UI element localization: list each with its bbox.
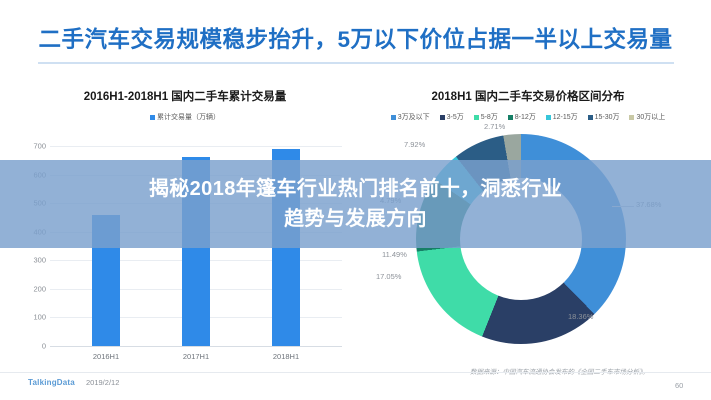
legend-label: 3-5万 — [447, 114, 464, 121]
slice-label-30wan-yishang: 2.71% — [484, 122, 505, 131]
footer-divider — [0, 372, 711, 373]
legend-swatch-icon — [391, 115, 396, 120]
legend-label: 30万以上 — [636, 114, 665, 121]
y-axis-tick: 0 — [6, 342, 46, 351]
legend-label: 15-30万 — [595, 114, 620, 121]
legend-label: 累计交易量（万辆） — [157, 114, 220, 121]
legend-item: 30万以上 — [629, 112, 665, 122]
legend-label: 5-8万 — [481, 114, 498, 121]
legend-swatch-icon — [546, 115, 551, 120]
legend-swatch-icon — [474, 115, 479, 120]
x-axis-tick-2017h1: 2017H1 — [161, 352, 231, 361]
article-title-line-1: 揭秘2018年篷车行业热门排名前十，洞悉行业 — [149, 174, 562, 204]
page-number: 60 — [675, 381, 683, 390]
legend-swatch-icon — [588, 115, 593, 120]
legend-item: 5-8万 — [474, 112, 498, 122]
slide-canvas: 二手汽车交易规模稳步抬升，5万以下价位占据一半以上交易量 2016H1-2018… — [0, 0, 711, 400]
y-axis-tick: 200 — [6, 284, 46, 293]
legend-item: 3-5万 — [440, 112, 464, 122]
bar-chart-legend: 累计交易量（万辆） — [20, 112, 350, 122]
legend-swatch-icon — [440, 115, 445, 120]
x-axis-tick-2018h1: 2018H1 — [251, 352, 321, 361]
article-title-line-2: 趋势与发展方向 — [284, 204, 427, 234]
donut-chart-legend: 3万及以下 3-5万 5-8万 8-12万 12-15万 15-30万 30万以… — [358, 112, 698, 122]
legend-swatch-icon — [508, 115, 513, 120]
gridline — [50, 146, 342, 147]
article-overlay-text: 揭秘2018年篷车行业热门排名前十，洞悉行业 趋势与发展方向 — [0, 160, 711, 248]
legend-item: 3万及以下 — [391, 112, 430, 122]
page-title: 二手汽车交易规模稳步抬升，5万以下价位占据一半以上交易量 — [0, 22, 711, 54]
legend-swatch-icon — [150, 115, 155, 120]
legend-label: 12-15万 — [553, 114, 578, 121]
slice-label-3-5wan: 18.36% — [568, 312, 593, 321]
y-axis-tick: 700 — [6, 142, 46, 151]
source-note: 数据来源：中国汽车流通协会发布的《全国二手车市场分析》。 — [470, 366, 649, 376]
y-axis-tick: 300 — [6, 256, 46, 265]
title-divider — [38, 62, 674, 64]
slice-label-5-8wan: 17.05% — [376, 272, 401, 281]
legend-item: 15-30万 — [588, 112, 620, 122]
slice-label-8-12wan: 11.49% — [382, 250, 407, 259]
slice-label-15-30wan: 7.92% — [404, 140, 425, 149]
bar-chart-title: 2016H1-2018H1 国内二手车累计交易量 — [20, 88, 350, 104]
x-axis-tick-2016h1: 2016H1 — [71, 352, 141, 361]
donut-chart-title: 2018H1 国内二手车交易价格区间分布 — [358, 88, 698, 104]
legend-item: 8-12万 — [508, 112, 536, 122]
y-axis-tick: 100 — [6, 313, 46, 322]
brand-logo: TalkingData — [28, 378, 75, 387]
brand-date: 2019/2/12 — [86, 378, 119, 387]
legend-item: 12-15万 — [546, 112, 578, 122]
x-axis-line — [50, 346, 342, 347]
legend-swatch-icon — [629, 115, 634, 120]
legend-label: 3万及以下 — [398, 114, 430, 121]
legend-label: 8-12万 — [515, 114, 536, 121]
legend-item: 累计交易量（万辆） — [150, 112, 220, 122]
